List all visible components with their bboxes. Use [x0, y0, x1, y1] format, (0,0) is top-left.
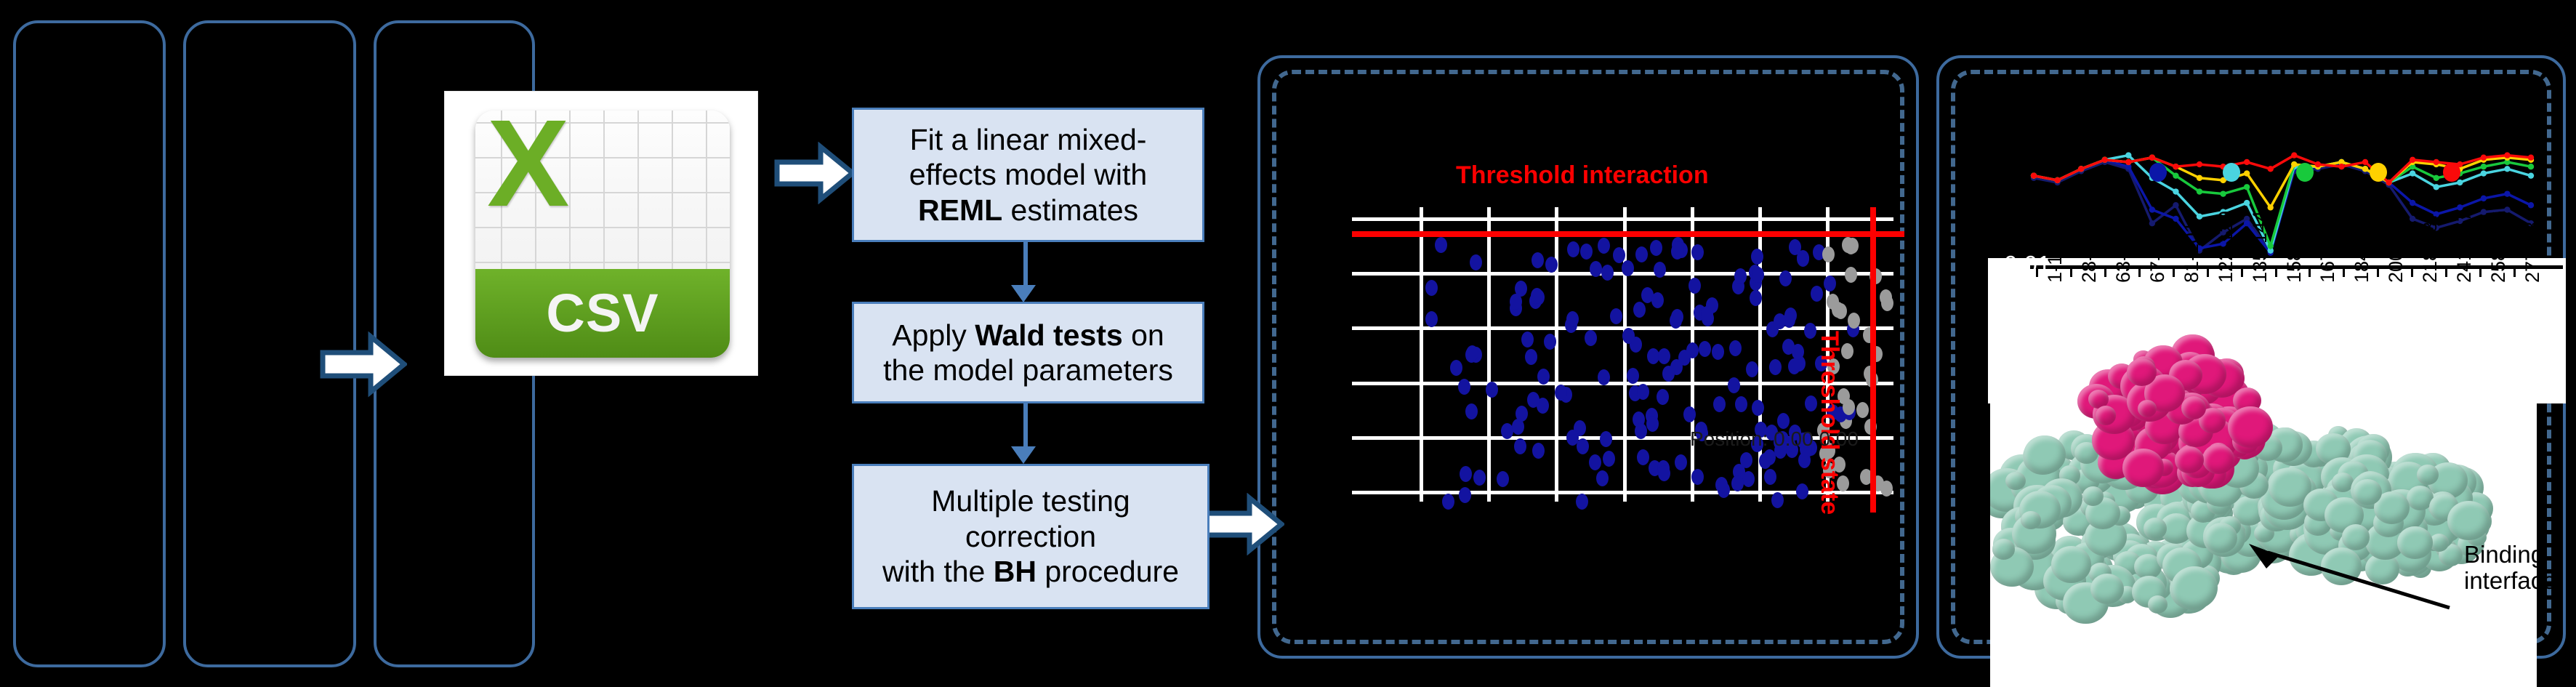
chart-data-point	[2244, 200, 2250, 206]
csv-format-band: CSV	[475, 269, 730, 358]
chart-data-point	[2244, 159, 2250, 165]
step2-bold-wald: Wald tests	[975, 318, 1123, 352]
scatter-point-sig	[1675, 454, 1687, 470]
scatter-point-sig	[1769, 359, 1782, 375]
chart-data-point	[2434, 175, 2439, 181]
scatter-point-sig	[1689, 278, 1701, 294]
flow-arrow-to-csv	[320, 331, 407, 398]
scatter-point-sig	[1473, 470, 1486, 486]
scatter-point-sig	[1465, 403, 1478, 419]
scatter-position-readout: Position: 0.00 0.00	[1690, 427, 1859, 451]
scatter-point-sig	[1459, 487, 1471, 503]
chart-data-point	[2528, 172, 2534, 178]
protein-chain-b-surface	[2175, 446, 2203, 473]
step1-line2: effects model with	[909, 158, 1147, 191]
scatter-point-sig	[1580, 244, 1593, 260]
scatter-point-sig	[1670, 313, 1682, 329]
chart-data-point	[2410, 170, 2415, 176]
scatter-point-sig	[1735, 396, 1747, 412]
scatter-point-sig	[1792, 344, 1804, 360]
scatter-point-ns	[1835, 303, 1847, 319]
caption-line-1: Binding	[2464, 542, 2573, 568]
chart-data-point	[2244, 170, 2250, 176]
step3-line3b: procedure	[1037, 555, 1179, 588]
scatter-point-sig	[1699, 341, 1711, 357]
axis-tick-label: 184-199	[2351, 211, 2373, 283]
scatter-point-sig	[1662, 366, 1675, 382]
scatter-point-sig	[1771, 492, 1784, 508]
scatter-point-sig	[1713, 396, 1726, 412]
chart-data-point	[2197, 214, 2202, 220]
scatter-point-sig	[1672, 241, 1684, 257]
step3-line1: Multiple testing	[931, 484, 1130, 518]
scatter-point-sig	[1777, 413, 1790, 429]
step2-lead: Apply	[892, 318, 975, 352]
scatter-point-sig	[1610, 308, 1622, 324]
scatter-point-sig	[1712, 344, 1724, 360]
scatter-point-sig	[1764, 469, 1776, 485]
axis-tick	[2241, 265, 2243, 277]
scatter-point-ns	[1856, 402, 1869, 418]
axis-tick-label: 158-166	[2283, 211, 2306, 283]
scatter-point-sig	[1555, 385, 1567, 401]
binding-interface-caption: Binding interface	[2464, 542, 2573, 595]
scatter-point-sig	[1576, 494, 1588, 510]
scatter-point-sig	[1425, 311, 1438, 327]
protein-chain-a-surface	[2051, 546, 2091, 583]
scatter-point-sig	[1545, 257, 1558, 273]
csv-label: CSV	[546, 282, 659, 344]
grid-line-vertical	[1487, 207, 1491, 502]
chart-data-point	[2504, 190, 2510, 196]
scatter-point-sig	[1598, 369, 1610, 385]
grid-line-vertical	[1420, 207, 1423, 502]
scatter-point-sig	[1654, 262, 1666, 278]
chart-data-point	[2362, 166, 2368, 172]
scatter-point-ns	[1845, 267, 1857, 283]
scatter-point-sig	[1531, 252, 1544, 268]
axis-tick-label: 122-129	[2215, 211, 2237, 283]
chart-data-point	[2197, 161, 2202, 167]
step1-bold-reml: REML	[918, 193, 1002, 227]
grid-line-vertical	[1555, 207, 1558, 502]
chart-data-point	[2434, 184, 2439, 190]
scatter-point-sig	[1731, 475, 1744, 491]
axis-tick	[2479, 265, 2482, 277]
scatter-point-sig	[1435, 237, 1447, 253]
chart-data-point	[2338, 164, 2344, 169]
scatter-point-sig	[1585, 330, 1597, 346]
chart-data-point	[2410, 216, 2415, 222]
step3-line3a: with the	[882, 555, 994, 588]
axis-tick	[2207, 265, 2209, 277]
axis-tick-label: 277-284	[2521, 211, 2544, 283]
axis-tick-label: 135-144	[2249, 211, 2271, 283]
scatter-point-sig	[1596, 470, 1609, 486]
chart-data-point	[2457, 204, 2463, 210]
axis-tick	[2070, 265, 2072, 277]
axis-tick-label: 28-44	[2078, 233, 2101, 283]
chart-data-point	[2481, 196, 2487, 201]
scatter-point-sig	[1824, 276, 1836, 292]
scatter-point-sig	[1566, 311, 1579, 327]
axis-tick	[2309, 265, 2311, 277]
chart-data-point	[2149, 220, 2155, 226]
step3-bold-bh: BH	[994, 555, 1037, 588]
scatter-point-sig	[1779, 270, 1792, 286]
scatter-point-sig	[1603, 451, 1615, 467]
scatter-point-sig	[1752, 400, 1764, 416]
chart-data-point	[2528, 202, 2534, 208]
threshold-state-label: Threshold state	[1815, 331, 1843, 515]
chart-data-point	[2481, 170, 2487, 176]
csv-file-icon: X CSV	[445, 92, 757, 375]
chart-data-point	[2410, 157, 2415, 163]
chart-data-point	[2173, 164, 2178, 169]
protein-structure-figure	[1990, 284, 2537, 687]
connector-line-2	[1023, 403, 1028, 449]
legend-dot	[2296, 163, 2314, 182]
chart-data-point	[2244, 184, 2250, 190]
scatter-point-sig	[1627, 368, 1639, 384]
y-axis-min-label: 0.01	[2004, 251, 2050, 278]
chart-data-point	[2054, 177, 2060, 183]
protein-chain-b-surface	[2228, 406, 2273, 448]
scatter-point-sig	[1729, 340, 1742, 356]
scatter-point-sig	[1788, 358, 1800, 374]
scatter-point-sig	[1544, 334, 1556, 350]
protein-chain-a-surface	[2447, 501, 2490, 541]
axis-tick-label: 241-257	[2453, 211, 2476, 283]
scatter-point-sig	[1734, 268, 1747, 284]
connector-arrowhead-2	[1011, 446, 1036, 464]
scatter-point-sig	[1646, 416, 1659, 432]
chart-data-point	[2504, 166, 2510, 172]
scatter-point-sig	[1650, 240, 1662, 256]
scatter-point-sig	[1797, 250, 1809, 266]
protein-chain-b-surface	[2122, 449, 2164, 487]
chart-data-point	[2173, 216, 2178, 222]
scatter-point-sig	[1678, 350, 1691, 366]
scatter-point-sig	[1450, 360, 1462, 376]
chart-data-point	[2173, 172, 2178, 178]
axis-tick	[2377, 265, 2379, 277]
scatter-point-sig	[1598, 238, 1610, 254]
step2-line2: the model parameters	[883, 353, 1173, 387]
axis-tick	[2138, 265, 2141, 277]
protein-chain-a-surface	[1992, 539, 2015, 560]
chart-data-point	[2173, 202, 2178, 208]
axis-tick	[2513, 265, 2516, 277]
scatter-point-sig	[1525, 349, 1537, 365]
axis-tick	[2411, 265, 2413, 277]
scatter-point-ns	[1881, 295, 1893, 311]
scatter-point-sig	[1728, 377, 1740, 393]
chart-data-point	[2149, 155, 2155, 161]
scatter-point-sig	[1521, 332, 1534, 347]
step-wald-tests-box: Apply Wald tests on the model parameters	[852, 302, 1204, 403]
scatter-point-sig	[1796, 483, 1808, 499]
chart-data-point	[2149, 206, 2155, 212]
chart-data-point	[2173, 188, 2178, 194]
scatter-point-sig	[1811, 286, 1823, 302]
chart-data-point	[2362, 159, 2368, 165]
legend-dot	[2443, 163, 2460, 182]
legend-dot	[2370, 163, 2387, 182]
scatter-point-sig	[1613, 247, 1625, 263]
binding-interface-pointer	[2239, 538, 2457, 622]
protein-chain-a-surface	[2024, 435, 2066, 475]
chart-data-point	[2457, 180, 2463, 185]
chart-data-point	[2102, 157, 2108, 163]
connector-arrowhead-1	[1011, 285, 1036, 302]
scatter-point-sig	[1774, 313, 1786, 329]
protein-chain-a-surface	[2005, 472, 2025, 490]
panel-data-source	[13, 20, 166, 667]
axis-tick	[2343, 265, 2345, 277]
scatter-point-ns	[1822, 246, 1835, 262]
scatter-point-sig	[1691, 469, 1704, 485]
scatter-point-sig	[1746, 361, 1758, 377]
scatter-point-sig	[1750, 290, 1762, 306]
flow-arrow-to-results	[1203, 493, 1284, 555]
scatter-point-sig	[1658, 348, 1670, 364]
caption-line-2: interface	[2464, 568, 2573, 594]
flow-arrow-to-model	[774, 142, 856, 204]
chart-data-point	[2386, 180, 2391, 185]
threshold-interaction-label: Threshold interaction	[1456, 161, 1709, 190]
protein-chain-b-surface	[2181, 396, 2207, 419]
scatter-point-sig	[1622, 260, 1634, 276]
scatter-point-sig	[1458, 379, 1470, 395]
scatter-point-sig	[1486, 382, 1498, 398]
chart-data-point	[2481, 209, 2487, 214]
scatter-point-sig	[1637, 384, 1649, 400]
scatter-point-sig	[1601, 265, 1614, 281]
grid-line-horizontal	[1352, 382, 1893, 385]
axis-tick-label: 167-180	[2317, 211, 2339, 283]
scatter-point-sig	[1425, 280, 1438, 296]
scatter-point-sig	[1589, 454, 1601, 470]
chart-data-point	[2528, 155, 2534, 161]
chart-data-point	[2528, 164, 2534, 169]
step-multiple-testing-box: Multiple testing correction with the BH …	[852, 464, 1209, 609]
grid-line-horizontal	[1352, 491, 1893, 494]
legend-dot	[2223, 163, 2240, 182]
chart-data-point	[2481, 155, 2487, 161]
chart-data-point	[2197, 175, 2202, 181]
chart-data-point	[2268, 204, 2274, 210]
chart-data-point	[2291, 152, 2297, 158]
step2-tail: on	[1123, 318, 1164, 352]
protein-chain-b-surface	[2202, 444, 2234, 474]
axis-tick-label: 63-73	[2112, 233, 2135, 283]
chart-data-point	[2504, 152, 2510, 158]
scatter-point-sig	[1691, 244, 1704, 260]
excel-x-icon: X	[487, 111, 569, 225]
protein-chain-a-surface	[2082, 486, 2104, 506]
axis-tick-label: 200-214	[2385, 211, 2407, 283]
scatter-point-sig	[1527, 392, 1539, 408]
scatter-point-sig	[1635, 423, 1647, 439]
scatter-point-sig	[1567, 241, 1579, 257]
scatter-point-sig	[1657, 389, 1669, 405]
scatter-point-sig	[1715, 477, 1728, 493]
protein-chain-a-surface	[2205, 523, 2238, 553]
scatter-point-sig	[1516, 406, 1528, 422]
scatter-point-sig	[1752, 267, 1764, 283]
scatter-point-sig	[1577, 438, 1589, 454]
connector-line-1	[1023, 242, 1028, 287]
axis-tick-label: 81-101	[2181, 222, 2203, 283]
csv-icon-body: X CSV	[475, 111, 730, 358]
axis-tick	[2445, 265, 2447, 277]
step-fit-model-box: Fit a linear mixed- effects model with R…	[852, 108, 1204, 242]
protein-chain-a-surface	[2021, 511, 2040, 529]
scatter-point-sig	[1622, 328, 1635, 344]
axis-tick	[2275, 265, 2277, 277]
protein-chain-a-surface	[2171, 566, 2218, 609]
scatter-point-sig	[1470, 254, 1482, 270]
threshold-interaction-line	[1352, 231, 1904, 237]
step3-line2: correction	[965, 520, 1096, 553]
chart-data-point	[2125, 159, 2131, 165]
chart-data-point	[2268, 166, 2274, 172]
chart-data-point	[2315, 161, 2321, 167]
scatter-point-sig	[1600, 431, 1612, 447]
scatter-point-sig	[1510, 294, 1522, 310]
scatter-point-sig	[1701, 306, 1713, 322]
scatter-point-ns	[1842, 237, 1854, 253]
axis-tick	[2104, 265, 2106, 277]
threshold-state-line	[1870, 207, 1876, 513]
scatter-point-sig	[1683, 406, 1696, 422]
grid-line-horizontal	[1352, 217, 1893, 221]
legend-dot	[2149, 163, 2167, 182]
chart-data-point	[2197, 188, 2202, 194]
scatter-point-sig	[1531, 288, 1543, 304]
axis-tick-label: 67-75	[2146, 233, 2169, 283]
scatter-point-sig	[1651, 292, 1664, 308]
scatter-point-sig	[1460, 466, 1472, 482]
protein-chain-a-surface	[2353, 479, 2382, 506]
chart-data-point	[2481, 164, 2487, 169]
step1-tail: estimates	[1002, 193, 1138, 227]
protein-chain-b-surface	[2127, 358, 2157, 386]
scatter-point-sig	[1532, 443, 1545, 459]
scatter-point-sig	[1442, 494, 1454, 510]
chart-data-point	[2220, 190, 2226, 196]
scatter-point-sig	[1740, 452, 1752, 468]
axis-tick-label: 258-266	[2487, 211, 2510, 283]
scatter-point-sig	[1751, 249, 1763, 265]
scatter-point-sig	[1537, 369, 1550, 385]
chart-data-point	[2434, 159, 2439, 165]
chart-data-point	[2410, 200, 2415, 206]
axis-tick-label: 218-237	[2419, 211, 2442, 283]
scatter-point-sig	[1466, 345, 1478, 361]
protein-chain-a-surface	[2148, 595, 2168, 614]
scatter-plot	[1352, 207, 1893, 502]
scatter-point-sig	[1637, 449, 1649, 465]
scatter-point-sig	[1514, 438, 1526, 454]
step1-line1: Fit a linear mixed-	[910, 123, 1147, 156]
chart-data-point	[2125, 152, 2131, 158]
chart-data-point	[2031, 172, 2037, 178]
axis-tick	[2173, 265, 2175, 277]
scatter-point-sig	[1633, 302, 1646, 318]
scatter-point-sig	[1658, 465, 1670, 481]
scatter-point-ns	[1848, 313, 1860, 329]
protein-chain-b-surface	[2096, 406, 2117, 425]
scatter-point-sig	[1759, 453, 1771, 469]
protein-chain-a-surface	[2090, 574, 2124, 604]
scatter-point-sig	[1635, 246, 1648, 262]
scatter-point-sig	[1497, 471, 1509, 487]
chart-data-point	[2291, 161, 2297, 167]
protein-chain-a-surface	[2417, 465, 2439, 485]
chart-data-point	[2078, 166, 2084, 172]
scatter-point-sig	[1590, 261, 1602, 277]
